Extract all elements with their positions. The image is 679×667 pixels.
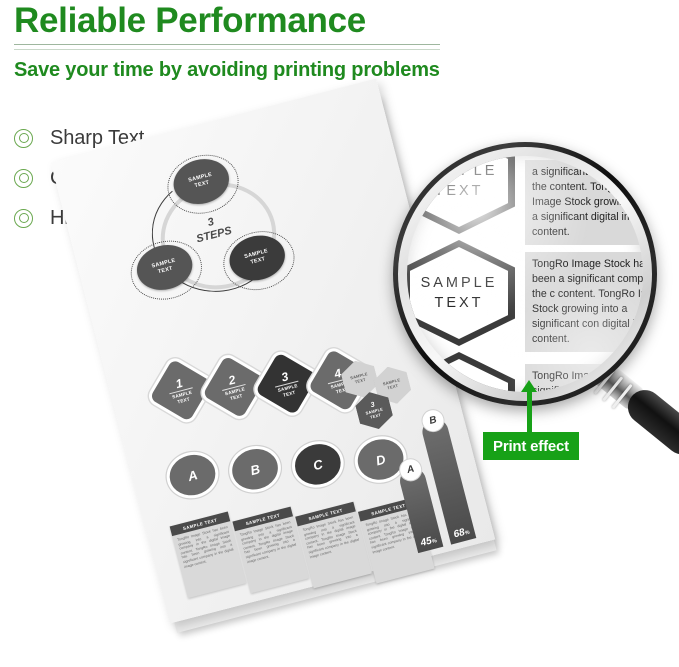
header: Reliable Performance Save your time by a…	[14, 2, 454, 82]
step-number: 4	[333, 367, 342, 380]
hexagon-large: SAMPLETEXT	[407, 240, 515, 346]
step-number: 3	[280, 370, 289, 383]
magnifier-glass: SAMPLETEXT a significant company in the …	[393, 142, 657, 406]
letter-circle: A	[165, 450, 220, 500]
step-diamond: 2 SAMPLETEXT	[202, 355, 265, 418]
magnified-content: SAMPLETEXT a significant company in the …	[407, 156, 643, 392]
double-circle-icon	[14, 169, 33, 188]
hexagon-large: SAMPLETEXT	[407, 352, 515, 392]
callout-label: Print effect	[493, 438, 569, 455]
letter-circle: B	[228, 444, 283, 494]
hex-line1: SAMPLE	[421, 161, 498, 181]
page-title: Reliable Performance	[14, 2, 454, 40]
callout-arrow-stem	[527, 388, 532, 434]
print-effect-callout: Print effect	[483, 432, 579, 460]
hex-line2: TEXT	[434, 181, 483, 201]
magnified-paragraph: a significant company in the content. To…	[525, 160, 643, 245]
hex-line1: SAMPLE	[421, 385, 498, 392]
magnified-paragraph: TongRo Image Stock a significant com con…	[525, 364, 643, 392]
callout-arrow-head	[521, 380, 537, 392]
double-circle-icon	[14, 129, 33, 148]
page-subtitle: Save your time by avoiding printing prob…	[14, 58, 454, 82]
step-number: 1	[174, 377, 183, 390]
step-diamond: 3 SAMPLETEXT	[255, 352, 318, 415]
bar-a-value: 45%	[415, 533, 443, 550]
hex-line1: SAMPLE	[421, 273, 498, 293]
title-divider	[14, 44, 440, 50]
double-circle-icon	[14, 209, 33, 228]
step-number: 2	[227, 373, 236, 386]
hex-line2: TEXT	[354, 377, 366, 385]
hex-line2: TEXT	[434, 293, 483, 313]
poster-canvas: Reliable Performance Save your time by a…	[0, 0, 679, 667]
bar-b-value: 68%	[448, 524, 476, 541]
cycle-diagram: 3 STEPS SAMPLETEXT SAMPLETEXT SAMPLETEXT	[113, 139, 313, 326]
magnified-paragraph: TongRo Image Stock has been a significan…	[525, 252, 643, 352]
magnifier-lens: SAMPLETEXT a significant company in the …	[407, 156, 643, 392]
hexagon-large: SAMPLETEXT	[407, 156, 515, 234]
step-diamond: 1 SAMPLETEXT	[149, 359, 212, 422]
